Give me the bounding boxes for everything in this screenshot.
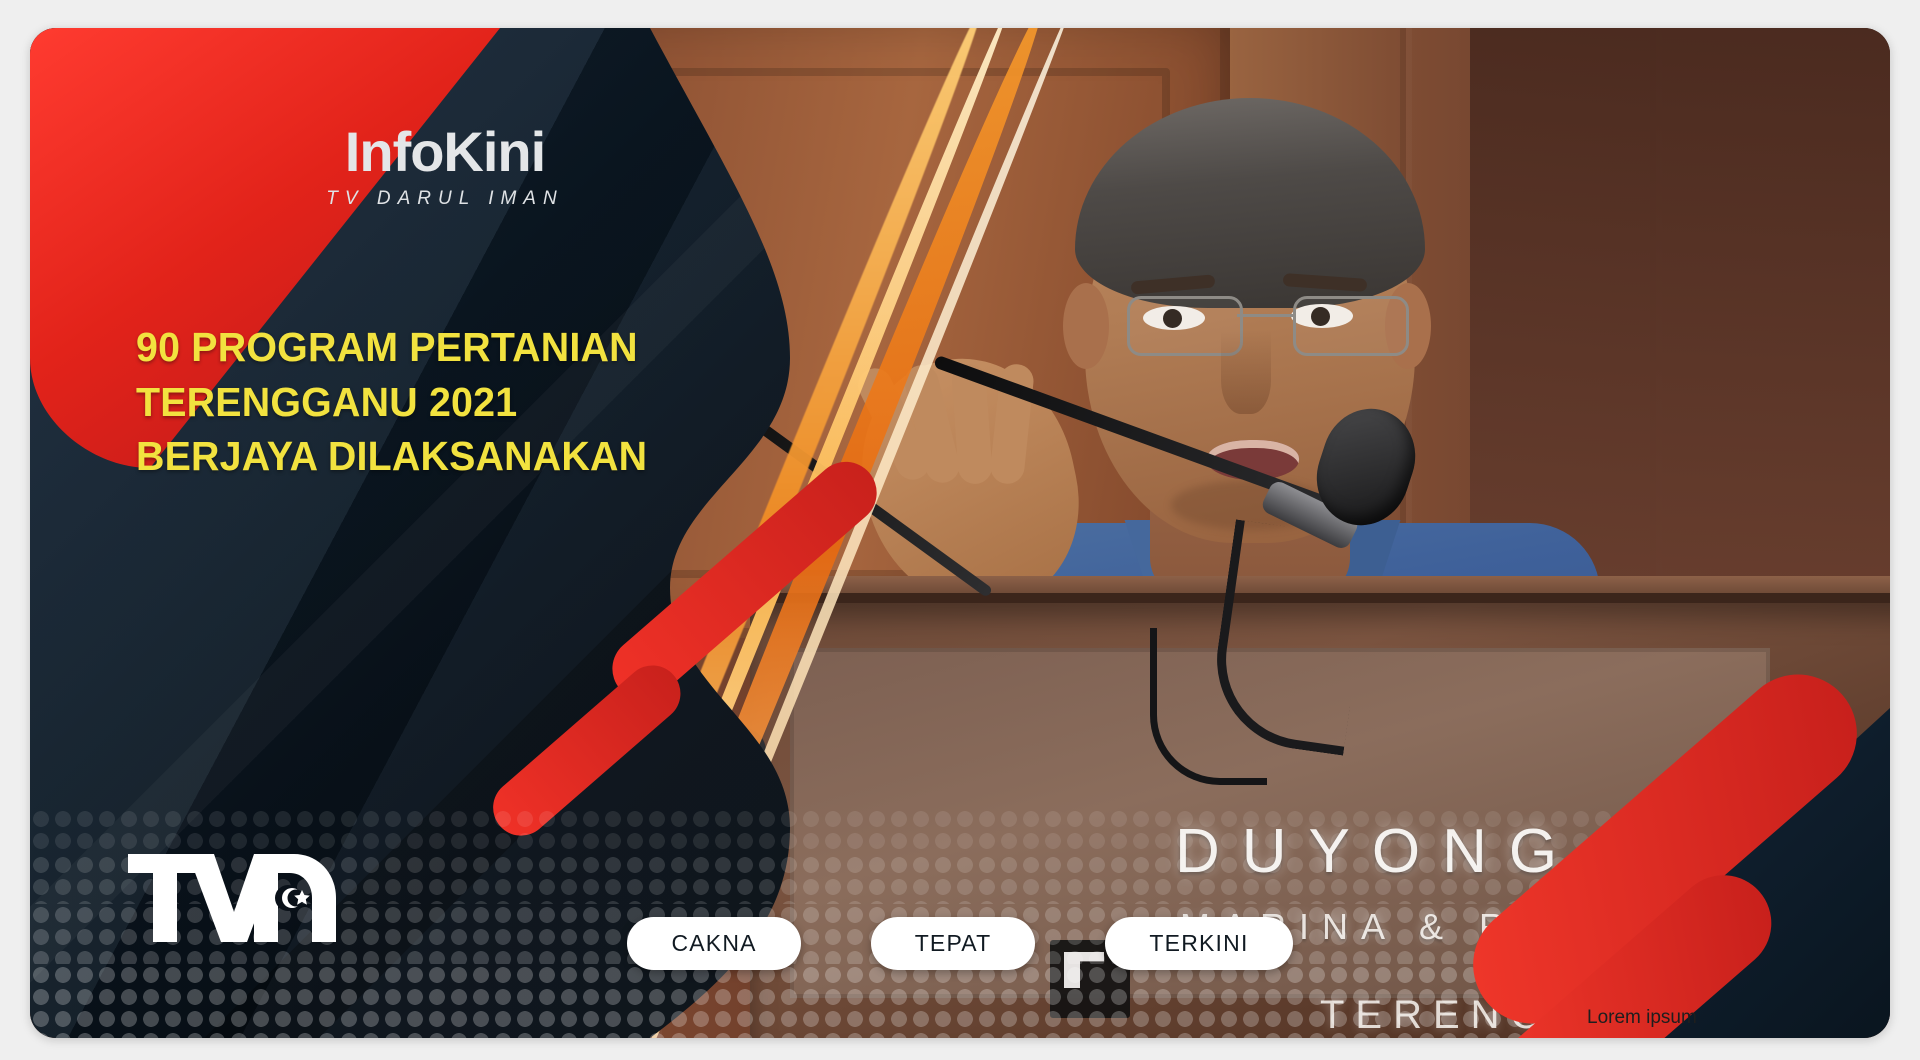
news-card: AZMAN bbox=[30, 28, 1890, 1038]
page-background: AZMAN bbox=[0, 0, 1920, 1060]
microphone-cable-secondary bbox=[1150, 628, 1267, 785]
speaker-ear-left bbox=[1063, 283, 1109, 369]
speaker-hair bbox=[1075, 98, 1425, 308]
lens-right bbox=[1293, 296, 1409, 356]
headline-line-1: 90 PROGRAM PERTANIAN bbox=[136, 320, 674, 375]
headline-line-2: TERENGGANU 2021 bbox=[136, 375, 674, 430]
headline: 90 PROGRAM PERTANIAN TERENGGANU 2021 BER… bbox=[136, 320, 696, 484]
pill-cakna[interactable]: CAKNA bbox=[627, 917, 800, 970]
red-diagonal-bars-left bbox=[510, 588, 970, 968]
red-diagonal-bars-right bbox=[1390, 588, 1890, 1038]
lorem-ipsum-overlay: Lorem ipsum bbox=[1587, 1007, 1697, 1029]
headline-line-3: BERJAYA DILAKSANAKAN bbox=[136, 429, 674, 484]
glasses-bridge bbox=[1237, 314, 1293, 317]
brand-title: InfoKini bbox=[235, 124, 655, 180]
pill-tepat[interactable]: TEPAT bbox=[871, 917, 1036, 970]
tagline-pill-row: CAKNA TEPAT TERKINI bbox=[30, 917, 1890, 970]
speaker-nose bbox=[1221, 330, 1271, 414]
brand-tagline: TV DARUL IMAN bbox=[235, 188, 655, 210]
brand-lockup: InfoKini TV DARUL IMAN bbox=[235, 124, 655, 210]
pill-terkini[interactable]: TERKINI bbox=[1105, 917, 1292, 970]
